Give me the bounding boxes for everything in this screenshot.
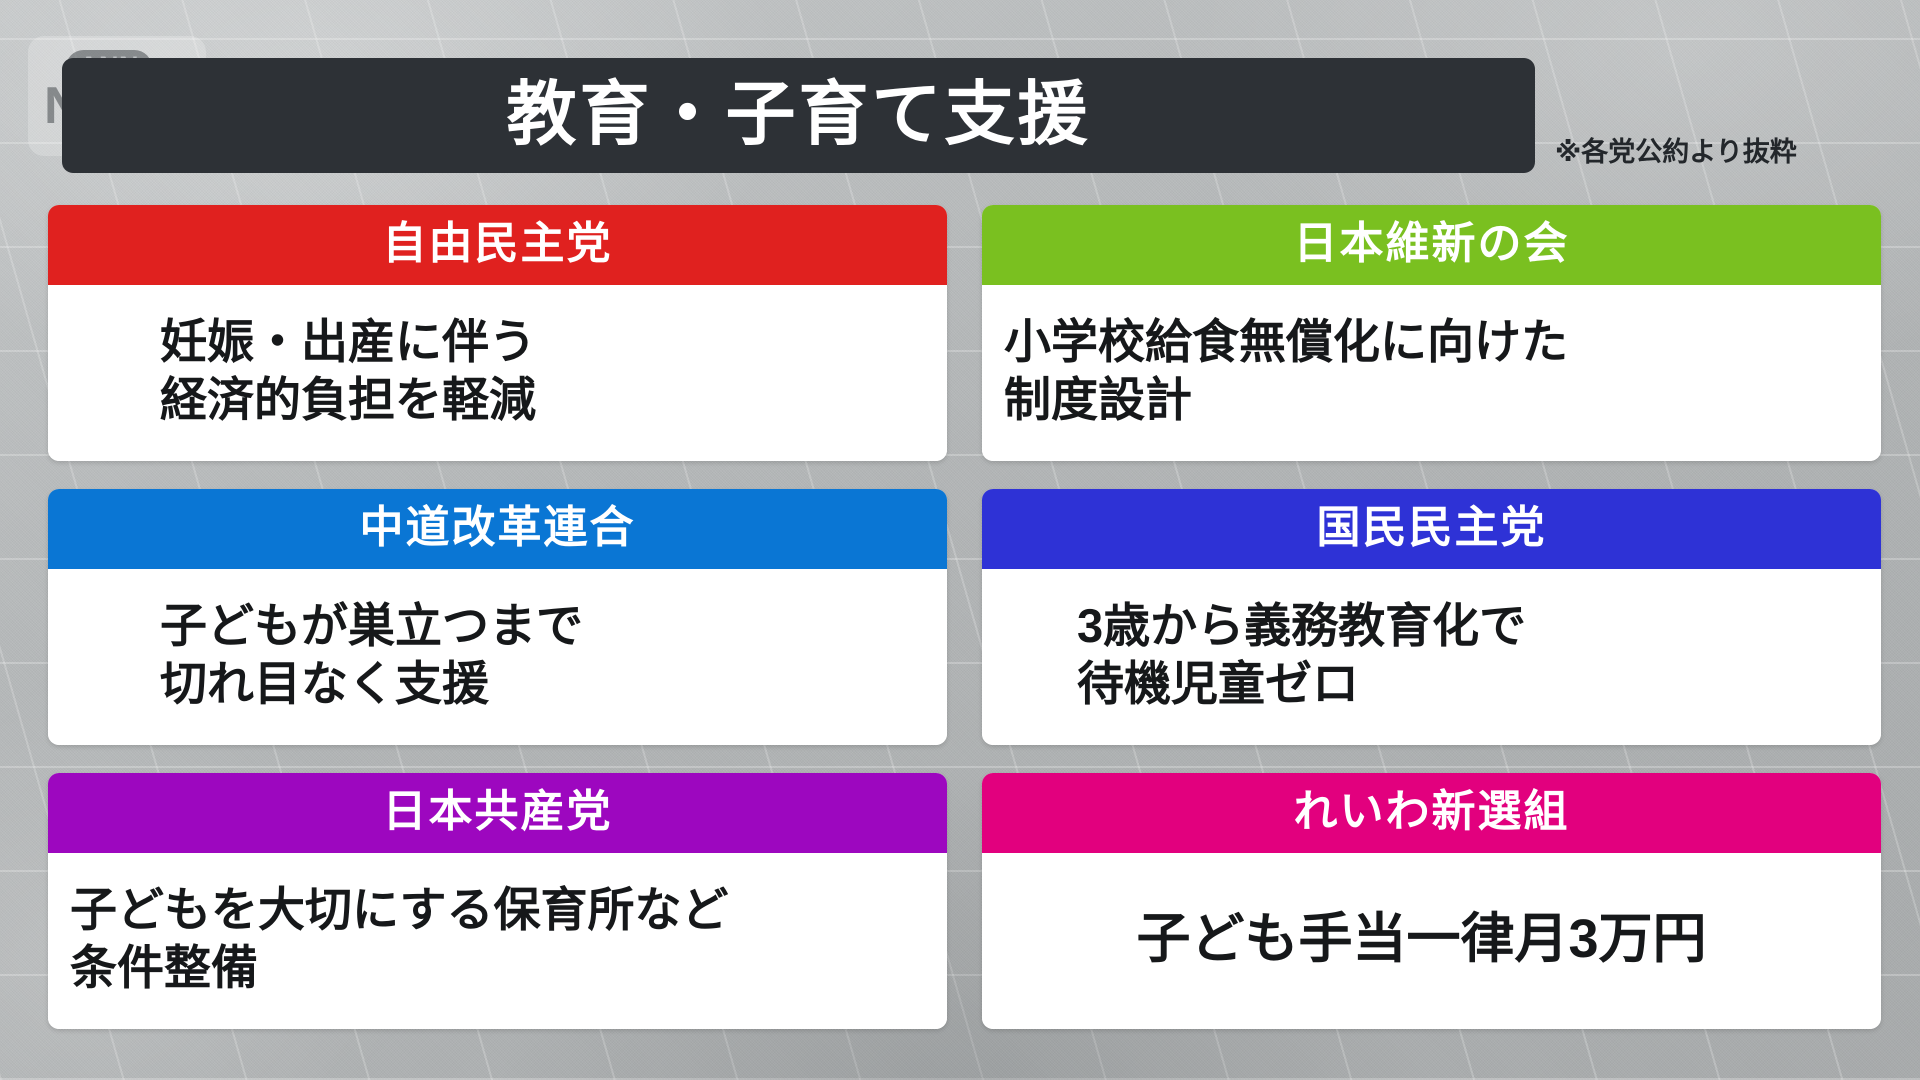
pledge-line: 妊娠・出産に伴う	[160, 313, 927, 371]
party-card-header: 中道改革連合	[48, 489, 947, 569]
party-card: 日本維新の会小学校給食無償化に向けた制度設計	[982, 205, 1881, 461]
party-card-header: 日本維新の会	[982, 205, 1881, 285]
source-note: ※各党公約より抜粋	[1555, 130, 1797, 169]
page-title: 教育・子育て支援	[507, 79, 1091, 149]
party-card: 国民民主党3歳から義務教育化で待機児童ゼロ	[982, 489, 1881, 745]
party-pledge-text: 3歳から義務教育化で待機児童ゼロ	[982, 569, 1881, 745]
party-pledge-text: 妊娠・出産に伴う経済的負担を軽減	[48, 285, 947, 461]
party-card: 日本共産党子どもを大切にする保育所など条件整備	[48, 773, 947, 1029]
party-card: れいわ新選組子ども手当一律月3万円	[982, 773, 1881, 1029]
party-name: 自由民主党	[383, 222, 613, 266]
party-card-header: 日本共産党	[48, 773, 947, 853]
party-pledge-text: 子どもを大切にする保育所など条件整備	[48, 853, 947, 1029]
pledge-line: 待機児童ゼロ	[1077, 655, 1861, 713]
pledge-line: 子ども手当一律月3万円	[1136, 906, 1706, 973]
party-pledge-text: 子どもが巣立つまで切れ目なく支援	[48, 569, 947, 745]
party-name: れいわ新選組	[1294, 790, 1570, 834]
party-pledge-text: 子ども手当一律月3万円	[982, 853, 1881, 1029]
party-card-header: 自由民主党	[48, 205, 947, 285]
party-name: 国民民主党	[1317, 506, 1547, 550]
party-card-header: れいわ新選組	[982, 773, 1881, 853]
party-name: 日本維新の会	[1294, 222, 1570, 266]
pledge-line: 3歳から義務教育化で	[1077, 597, 1861, 655]
pledge-line: 条件整備	[70, 939, 927, 997]
pledge-line: 切れ目なく支援	[160, 655, 927, 713]
pledge-line: 制度設計	[1004, 371, 1861, 429]
party-name: 中道改革連合	[360, 506, 636, 550]
pledge-line: 子どもを大切にする保育所など	[70, 881, 927, 939]
party-card: 自由民主党妊娠・出産に伴う経済的負担を軽減	[48, 205, 947, 461]
title-bar: 教育・子育て支援	[62, 58, 1535, 173]
pledge-line: 経済的負担を軽減	[160, 371, 927, 429]
pledge-line: 小学校給食無償化に向けた	[1004, 313, 1861, 371]
pledge-line: 子どもが巣立つまで	[160, 597, 927, 655]
party-name: 日本共産党	[383, 790, 613, 834]
party-card: 中道改革連合子どもが巣立つまで切れ目なく支援	[48, 489, 947, 745]
party-pledge-text: 小学校給食無償化に向けた制度設計	[982, 285, 1881, 461]
broadcast-graphic: ANN NEWS 教育・子育て支援 ※各党公約より抜粋 自由民主党妊娠・出産に伴…	[0, 0, 1920, 1080]
party-card-header: 国民民主党	[982, 489, 1881, 569]
party-policy-grid: 自由民主党妊娠・出産に伴う経済的負担を軽減日本維新の会小学校給食無償化に向けた制…	[48, 205, 1881, 1029]
